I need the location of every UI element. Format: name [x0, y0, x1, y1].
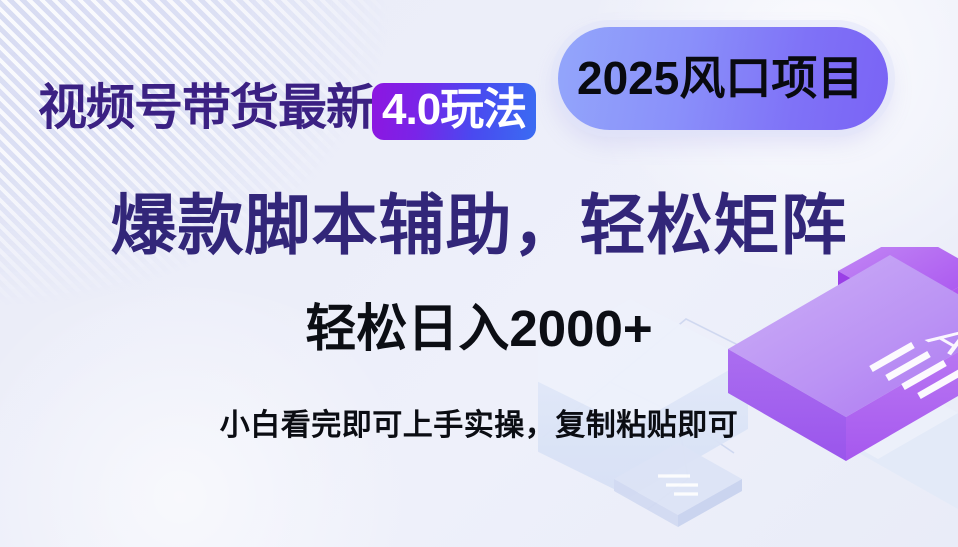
promo-poster: A 视频号带货最新4.0玩法 2025风口项目 爆款脚本辅助，轻松矩阵 轻松日入… [0, 0, 958, 547]
headline-line-3: 轻松日入2000+ [305, 296, 652, 362]
headline-line-2: 爆款脚本辅助，轻松矩阵 [111, 182, 848, 268]
campaign-pill-label: 2025风口项目 [577, 42, 957, 114]
headline-top-row: 视频号带货最新4.0玩法 2025风口项目 [0, 0, 958, 160]
poster-subtitle: 小白看完即可上手实操，复制粘贴即可 [220, 404, 739, 448]
headline-line-1-text: 视频号带货最新 [38, 81, 374, 135]
version-badge: 4.0玩法 [372, 83, 536, 140]
headline-line-1: 视频号带货最新4.0玩法 [38, 78, 536, 140]
